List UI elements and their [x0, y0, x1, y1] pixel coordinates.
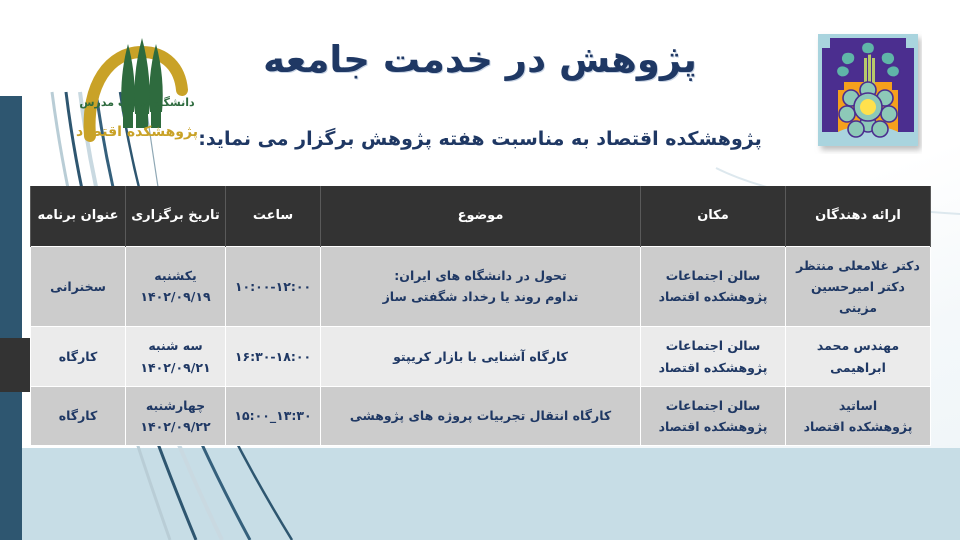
venue-line: پژوهشکده اقتصاد — [645, 286, 781, 307]
venue-line: پژوهشکده اقتصاد — [645, 357, 781, 378]
cell-date: چهارشنبه ۱۴۰۲/۰۹/۲۲ — [126, 386, 226, 446]
presenter-line: دکتر غلامعلی منتظر — [790, 255, 926, 276]
cell-program-title: کارگاه — [31, 386, 126, 446]
date-number: ۱۴۰۲/۰۹/۲۱ — [130, 357, 221, 378]
cell-presenters: مهندس محمد ابراهیمی — [786, 327, 931, 387]
page-subtitle: پژوهشکده اقتصاد به مناسبت هفته پژوهش برگ… — [0, 128, 960, 150]
venue-line: پژوهشکده اقتصاد — [645, 416, 781, 437]
venue-line: سالن اجتماعات — [645, 265, 781, 286]
page-title: پژوهش در خدمت جامعه — [0, 38, 960, 81]
poster-slide: دانشگاه تربیت مدرس پژوهشکده اقتصاد — [0, 0, 960, 540]
cell-presenters: دکتر غلامعلی منتظر دکتر امیرحسین مزینی — [786, 246, 931, 327]
cell-venue: سالن اجتماعات پژوهشکده اقتصاد — [641, 246, 786, 327]
cell-program-title: کارگاه — [31, 327, 126, 387]
date-day: یکشنبه — [130, 265, 221, 286]
cell-time: ۱۶:۳۰-۱۸:۰۰ — [226, 327, 321, 387]
column-header-program: عنوان برنامه — [31, 186, 126, 246]
university-name-line1: دانشگاه تربیت مدرس — [62, 96, 212, 109]
cell-program-title: سخنرانی — [31, 246, 126, 327]
table-header-row: ارائه دهندگان مکان موضوع ساعت تاریخ برگز… — [31, 186, 931, 246]
subject-line: تداوم روند یا رخداد شگفتی ساز — [325, 286, 636, 307]
cell-subject: کارگاه آشنایی با بازار کریپتو — [321, 327, 641, 387]
cell-venue: سالن اجتماعات پژوهشکده اقتصاد — [641, 386, 786, 446]
venue-line: سالن اجتماعات — [645, 335, 781, 356]
table-row: دکتر غلامعلی منتظر دکتر امیرحسین مزینی س… — [31, 246, 931, 327]
cell-subject: کارگاه انتقال تجربیات پروژه های پژوهشی — [321, 386, 641, 446]
cell-subject: تحول در دانشگاه های ایران: تداوم روند یا… — [321, 246, 641, 327]
cell-time: ۱۳:۳۰_۱۵:۰۰ — [226, 386, 321, 446]
cell-date: یکشنبه ۱۴۰۲/۰۹/۱۹ — [126, 246, 226, 327]
presenter-line: اساتید — [790, 395, 926, 416]
column-header-date: تاریخ برگزاری — [126, 186, 226, 246]
schedule-table: ارائه دهندگان مکان موضوع ساعت تاریخ برگز… — [30, 186, 931, 446]
column-header-presenters: ارائه دهندگان — [786, 186, 931, 246]
cell-time: ۱۰:۰۰-۱۲:۰۰ — [226, 246, 321, 327]
venue-line: سالن اجتماعات — [645, 395, 781, 416]
table-row: مهندس محمد ابراهیمی سالن اجتماعات پژوهشک… — [31, 327, 931, 387]
date-day: چهارشنبه — [130, 395, 221, 416]
column-header-time: ساعت — [226, 186, 321, 246]
date-day: سه شنبه — [130, 335, 221, 356]
column-header-subject: موضوع — [321, 186, 641, 246]
table-row: اساتید پژوهشکده اقتصاد سالن اجتماعات پژو… — [31, 386, 931, 446]
presenter-line: ابراهیمی — [790, 357, 926, 378]
presenter-line: پژوهشکده اقتصاد — [790, 416, 926, 437]
presenter-line: مهندس محمد — [790, 335, 926, 356]
column-header-venue: مکان — [641, 186, 786, 246]
presenter-line: دکتر امیرحسین مزینی — [790, 276, 926, 319]
subject-line: کارگاه آشنایی با بازار کریپتو — [325, 346, 636, 367]
date-number: ۱۴۰۲/۰۹/۲۲ — [130, 416, 221, 437]
cell-presenters: اساتید پژوهشکده اقتصاد — [786, 386, 931, 446]
date-number: ۱۴۰۲/۰۹/۱۹ — [130, 286, 221, 307]
subject-line: تحول در دانشگاه های ایران: — [325, 265, 636, 286]
cell-date: سه شنبه ۱۴۰۲/۰۹/۲۱ — [126, 327, 226, 387]
cell-venue: سالن اجتماعات پژوهشکده اقتصاد — [641, 327, 786, 387]
subject-line: کارگاه انتقال تجربیات پروژه های پژوهشی — [325, 405, 636, 426]
